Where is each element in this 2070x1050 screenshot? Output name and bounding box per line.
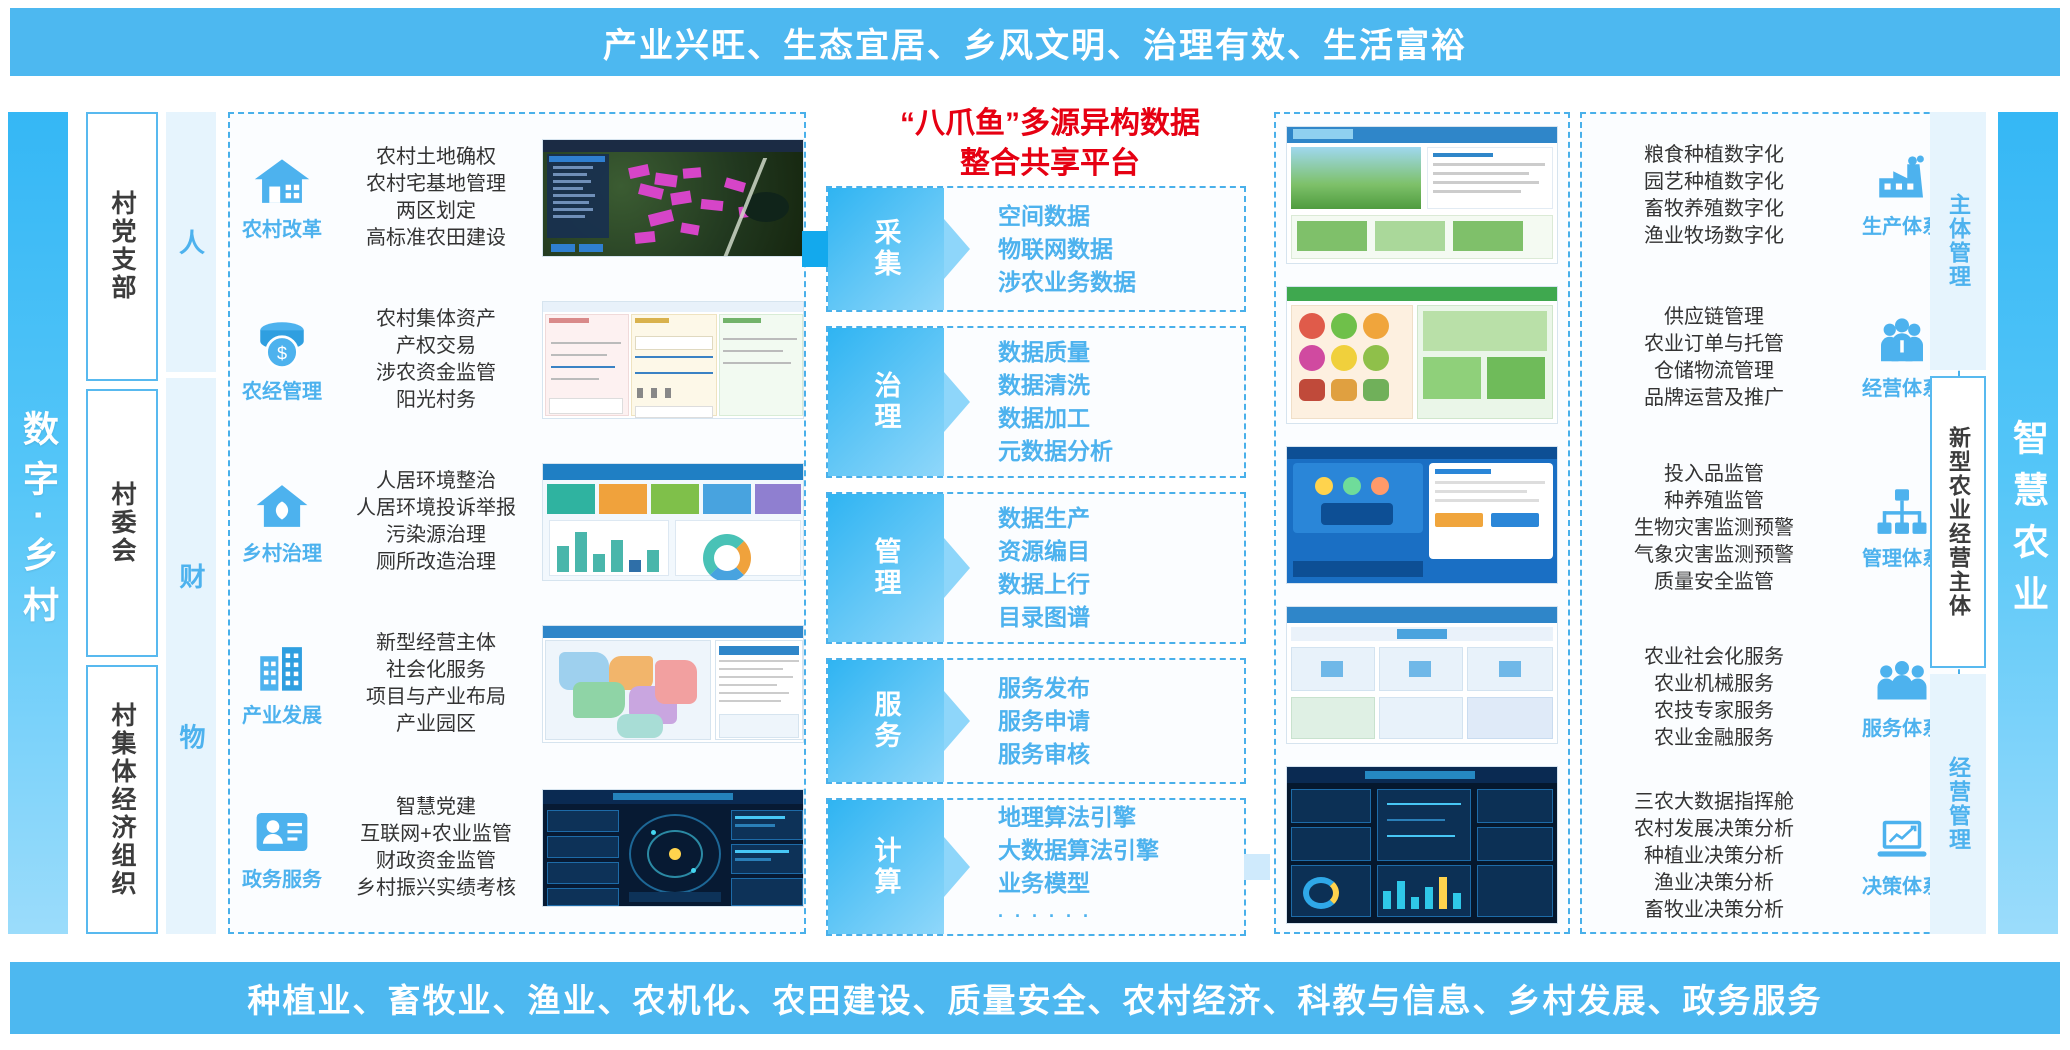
right-vertical-label: 智慧农业 [2002, 419, 2054, 627]
business-item: 阳光村务 [334, 387, 538, 414]
stage-tab-govern: 治理 [828, 328, 944, 476]
house-icon-svg [253, 155, 311, 209]
stage-tab-compute: 计算 [828, 800, 944, 934]
system-item: 品牌运营及推广 [1582, 385, 1846, 412]
screenshot-dark-bigdata-dashboard[interactable] [1286, 766, 1558, 924]
left-business-panel: 农村改革 农村土地确权 农村宅基地管理 两区划定 高标准农田建设 [228, 112, 806, 934]
stage-item: 资源编目 [998, 535, 1244, 568]
system-items: 农业社会化服务 农业机械服务 农技专家服务 农业金融服务 [1582, 644, 1846, 752]
resource-label-goods: 物 [176, 723, 206, 749]
system-row-operation[interactable]: 供应链管理 农业订单与托管 仓储物流管理 品牌运营及推广 经营体系 [1582, 282, 1958, 434]
system-item: 园艺种植数字化 [1582, 169, 1846, 196]
left-vertical-bar: 数字·乡村 [8, 112, 68, 934]
stage-items-govern: 数据质量 数据清洗 数据加工 元数据分析 [944, 328, 1244, 476]
business-caption: 乡村治理 [242, 537, 322, 566]
business-item: 产业园区 [334, 711, 538, 738]
business-item: 人居环境整治 [334, 468, 538, 495]
screenshot-governance-charts[interactable] [542, 463, 804, 581]
laptop-chart-icon-svg [1874, 814, 1930, 866]
system-item: 畜牧业决策分析 [1582, 897, 1846, 924]
business-item: 两区划定 [334, 198, 538, 225]
buildings-icon-svg [253, 641, 311, 695]
business-row-rural-reform[interactable]: 农村改革 农村土地确权 农村宅基地管理 两区划定 高标准农田建设 [230, 122, 804, 274]
org-box-label: 村委会 [104, 481, 140, 565]
org-box-column: 村党支部 村委会 村集体经济组织 [86, 112, 158, 934]
business-item: 乡村振兴实绩考核 [334, 875, 538, 902]
business-item: 产权交易 [334, 333, 538, 360]
business-item: 智慧党建 [334, 794, 538, 821]
right-systems-panel: 粮食种植数字化 园艺种植数字化 畜牧养殖数字化 渔业牧场数字化 生产体系 供应链… [1580, 112, 1960, 934]
stage-item: 涉农业务数据 [998, 266, 1244, 299]
stage-item: 物联网数据 [998, 233, 1244, 266]
right-vertical-bar: 智慧农业 [1998, 112, 2058, 934]
business-item: 社会化服务 [334, 657, 538, 684]
center-title-line-1: “八爪鱼”多源异构数据 [850, 104, 1250, 144]
screenshot-food-safety-blue[interactable] [1286, 446, 1558, 584]
business-item: 涉农资金监管 [334, 360, 538, 387]
stage-item: 大数据算法引擎 [998, 834, 1244, 867]
business-items: 农村集体资产 产权交易 涉农资金监管 阳光村务 [334, 306, 542, 414]
business-item: 新型经营主体 [334, 630, 538, 657]
home-leaf-icon-svg [253, 479, 311, 533]
screenshot-satellite-parcel-map[interactable] [542, 139, 804, 257]
business-items: 农村土地确权 农村宅基地管理 两区划定 高标准农田建设 [334, 144, 542, 252]
system-item: 农业金融服务 [1582, 725, 1846, 752]
home-leaf-icon: 乡村治理 [230, 479, 334, 566]
system-item: 生物灾害监测预警 [1582, 515, 1846, 542]
stage-items-compute: 地理算法引擎 大数据算法引擎 业务模型 · · · · · · [944, 800, 1244, 934]
org-box-collective-economy[interactable]: 村集体经济组织 [86, 665, 158, 934]
stage-connector-nub [802, 231, 828, 267]
stage-tab-collect: 采集 [828, 188, 944, 310]
top-banner-text: 产业兴旺、生态宜居、乡风文明、治理有效、生活富裕 [603, 18, 1467, 67]
stage-item: 业务模型 [998, 867, 1244, 900]
stage-item: 数据生产 [998, 502, 1244, 535]
stage-manage[interactable]: 管理 数据生产 资源编目 数据上行 目录图谱 [826, 492, 1246, 644]
business-item: 厕所改造治理 [334, 549, 538, 576]
house-icon: 农村改革 [230, 155, 334, 242]
stage-item: 服务发布 [998, 672, 1244, 705]
stage-items-manage: 数据生产 资源编目 数据上行 目录图谱 [944, 494, 1244, 642]
system-item: 种植业决策分析 [1582, 843, 1846, 870]
org-box-label: 村集体经济组织 [104, 702, 140, 898]
stage-compute[interactable]: 计算 地理算法引擎 大数据算法引擎 业务模型 · · · · · · [826, 798, 1246, 936]
right-label-column: 主体管理 新型农业经营主体 经营管理 [1930, 112, 1986, 934]
system-item: 农村发展决策分析 [1582, 816, 1846, 843]
screenshot-service-portal[interactable] [1286, 606, 1558, 744]
system-item: 农业社会化服务 [1582, 644, 1846, 671]
stage-name: 采集 [867, 218, 906, 280]
screenshot-produce-catalog[interactable] [1286, 286, 1558, 424]
top-banner: 产业兴旺、生态宜居、乡风文明、治理有效、生活富裕 [10, 8, 2060, 76]
stage-items-service: 服务发布 服务申请 服务审核 [944, 660, 1244, 782]
person-card-icon: 政务服务 [230, 805, 334, 892]
stage-item: 元数据分析 [998, 435, 1244, 468]
business-item: 农村土地确权 [334, 144, 538, 171]
stage-tab-manage: 管理 [828, 494, 944, 642]
system-item: 供应链管理 [1582, 304, 1846, 331]
system-items: 三农大数据指挥舱 农村发展决策分析 种植业决策分析 渔业决策分析 畜牧业决策分析 [1582, 789, 1846, 924]
stage-item: 数据清洗 [998, 369, 1244, 402]
buildings-icon: 产业发展 [230, 641, 334, 728]
system-row-management[interactable]: 投入品监管 种养殖监管 生物灾害监测预警 气象灾害监测预警 质量安全监管 [1582, 444, 1958, 612]
right-label-operation-management[interactable]: 经营管理 [1930, 674, 1986, 934]
stage-govern[interactable]: 治理 数据质量 数据清洗 数据加工 元数据分析 [826, 326, 1246, 478]
factory-icon-svg [1874, 154, 1930, 206]
business-caption: 政务服务 [242, 863, 322, 892]
person-card-icon-svg [253, 805, 311, 859]
left-vertical-label: 数字·乡村 [12, 410, 64, 636]
system-items: 粮食种植数字化 园艺种植数字化 畜牧养殖数字化 渔业牧场数字化 [1582, 142, 1846, 250]
system-item: 质量安全监管 [1582, 569, 1846, 596]
business-row-industry-development[interactable]: 产业发展 新型经营主体 社会化服务 项目与产业布局 产业园区 [230, 608, 804, 760]
business-items: 新型经营主体 社会化服务 项目与产业布局 产业园区 [334, 630, 542, 738]
bottom-banner-text: 种植业、畜牧业、渔业、农机化、农田建设、质量安全、农村经济、科教与信息、乡村发展… [248, 974, 1823, 1022]
business-row-rural-economy[interactable]: $ 农经管理 农村集体资产 产权交易 涉农资金监管 阳光村务 [230, 284, 804, 436]
screenshot-asset-dashboard[interactable] [542, 301, 804, 419]
stage-tab-service: 服务 [828, 660, 944, 782]
stage-tail-nub [1244, 854, 1270, 880]
system-item: 渔业决策分析 [1582, 870, 1846, 897]
screenshot-dark-command-center[interactable] [542, 789, 804, 907]
bottom-banner: 种植业、畜牧业、渔业、农机化、农田建设、质量安全、农村经济、科教与信息、乡村发展… [10, 962, 2060, 1034]
system-item: 投入品监管 [1582, 461, 1846, 488]
stage-item: 数据上行 [998, 568, 1244, 601]
stage-item: 空间数据 [998, 200, 1244, 233]
org-box-village-party-branch[interactable]: 村党支部 [86, 112, 158, 381]
business-row-rural-governance[interactable]: 乡村治理 人居环境整治 人居环境投诉举报 污染源治理 厕所改造治理 [230, 446, 804, 598]
people-service-icon-svg [1874, 656, 1930, 708]
system-item: 渔业牧场数字化 [1582, 223, 1846, 250]
stage-item: 数据质量 [998, 336, 1244, 369]
system-item: 农业订单与托管 [1582, 331, 1846, 358]
system-item: 农技专家服务 [1582, 698, 1846, 725]
center-platform-title: “八爪鱼”多源异构数据 整合共享平台 [850, 104, 1250, 184]
svg-text:$: $ [277, 343, 287, 363]
stage-item: · · · · · · [998, 900, 1244, 933]
business-item: 农村宅基地管理 [334, 171, 538, 198]
system-item: 三农大数据指挥舱 [1582, 789, 1846, 816]
business-item: 项目与产业布局 [334, 684, 538, 711]
center-process-panel: 采集 空间数据 物联网数据 涉农业务数据 治理 数据质量 数据清洗 数据加工 元… [832, 186, 1252, 934]
system-item: 畜牧养殖数字化 [1582, 196, 1846, 223]
stage-item: 地理算法引擎 [998, 801, 1244, 834]
system-item: 种养殖监管 [1582, 488, 1846, 515]
diagram-root: 产业兴旺、生态宜居、乡风文明、治理有效、生活富裕 数字·乡村 村党支部 村委会 … [0, 0, 2070, 1050]
business-items: 智慧党建 互联网+农业监管 财政资金监管 乡村振兴实绩考核 [334, 794, 542, 902]
resource-label-finance-goods: 财 物 [166, 378, 216, 934]
right-label-subject-management[interactable]: 主体管理 [1930, 112, 1986, 370]
coin-stack-icon-svg: $ [253, 317, 311, 371]
business-items: 人居环境整治 人居环境投诉举报 污染源治理 厕所改造治理 [334, 468, 542, 576]
system-row-service[interactable]: 农业社会化服务 农业机械服务 农技专家服务 农业金融服务 服务体系 [1582, 622, 1958, 774]
business-item: 污染源治理 [334, 522, 538, 549]
stage-item: 目录图谱 [998, 601, 1244, 634]
stage-items-collect: 空间数据 物联网数据 涉农业务数据 [944, 188, 1244, 310]
right-label-new-agri-entity[interactable]: 新型农业经营主体 [1930, 376, 1986, 668]
screenshot-industry-gis-map[interactable] [542, 625, 804, 743]
stage-name: 治理 [867, 371, 906, 433]
right-screenshot-panel [1274, 112, 1570, 934]
stage-name: 计算 [867, 836, 906, 898]
business-item: 人居环境投诉举报 [334, 495, 538, 522]
system-item: 气象灾害监测预警 [1582, 542, 1846, 569]
screenshot-agri-green-portal[interactable] [1286, 126, 1558, 264]
business-item: 财政资金监管 [334, 848, 538, 875]
business-caption: 农村改革 [242, 213, 322, 242]
stage-name: 管理 [867, 537, 906, 599]
business-item: 互联网+农业监管 [334, 821, 538, 848]
system-row-decision[interactable]: 三农大数据指挥舱 农村发展决策分析 种植业决策分析 渔业决策分析 畜牧业决策分析… [1582, 782, 1958, 930]
resource-label-finance: 财 [176, 563, 206, 589]
system-row-production[interactable]: 粮食种植数字化 园艺种植数字化 畜牧养殖数字化 渔业牧场数字化 生产体系 [1582, 120, 1958, 272]
system-items: 投入品监管 种养殖监管 生物灾害监测预警 气象灾害监测预警 质量安全监管 [1582, 461, 1846, 596]
business-row-government-services[interactable]: 政务服务 智慧党建 互联网+农业监管 财政资金监管 乡村振兴实绩考核 [230, 770, 804, 926]
coin-stack-icon: $ 农经管理 [230, 317, 334, 404]
system-items: 供应链管理 农业订单与托管 仓储物流管理 品牌运营及推广 [1582, 304, 1846, 412]
org-box-village-committee[interactable]: 村委会 [86, 389, 158, 658]
resource-label-people: 人 [166, 112, 216, 372]
business-caption: 产业发展 [242, 699, 322, 728]
stage-collect[interactable]: 采集 空间数据 物联网数据 涉农业务数据 [826, 186, 1246, 312]
stage-name: 服务 [867, 690, 906, 752]
org-box-label: 村党支部 [104, 190, 140, 302]
org-chart-icon-svg [1874, 486, 1930, 538]
business-caption: 农经管理 [242, 375, 322, 404]
people-group-icon-svg [1874, 316, 1930, 368]
resource-label-column: 人 财 物 [166, 112, 216, 934]
business-item: 农村集体资产 [334, 306, 538, 333]
center-title-line-2: 整合共享平台 [850, 144, 1250, 184]
stage-item: 服务审核 [998, 738, 1244, 771]
system-item: 粮食种植数字化 [1582, 142, 1846, 169]
stage-service[interactable]: 服务 服务发布 服务申请 服务审核 [826, 658, 1246, 784]
system-item: 农业机械服务 [1582, 671, 1846, 698]
stage-item: 数据加工 [998, 402, 1244, 435]
system-item: 仓储物流管理 [1582, 358, 1846, 385]
stage-item: 服务申请 [998, 705, 1244, 738]
business-item: 高标准农田建设 [334, 225, 538, 252]
